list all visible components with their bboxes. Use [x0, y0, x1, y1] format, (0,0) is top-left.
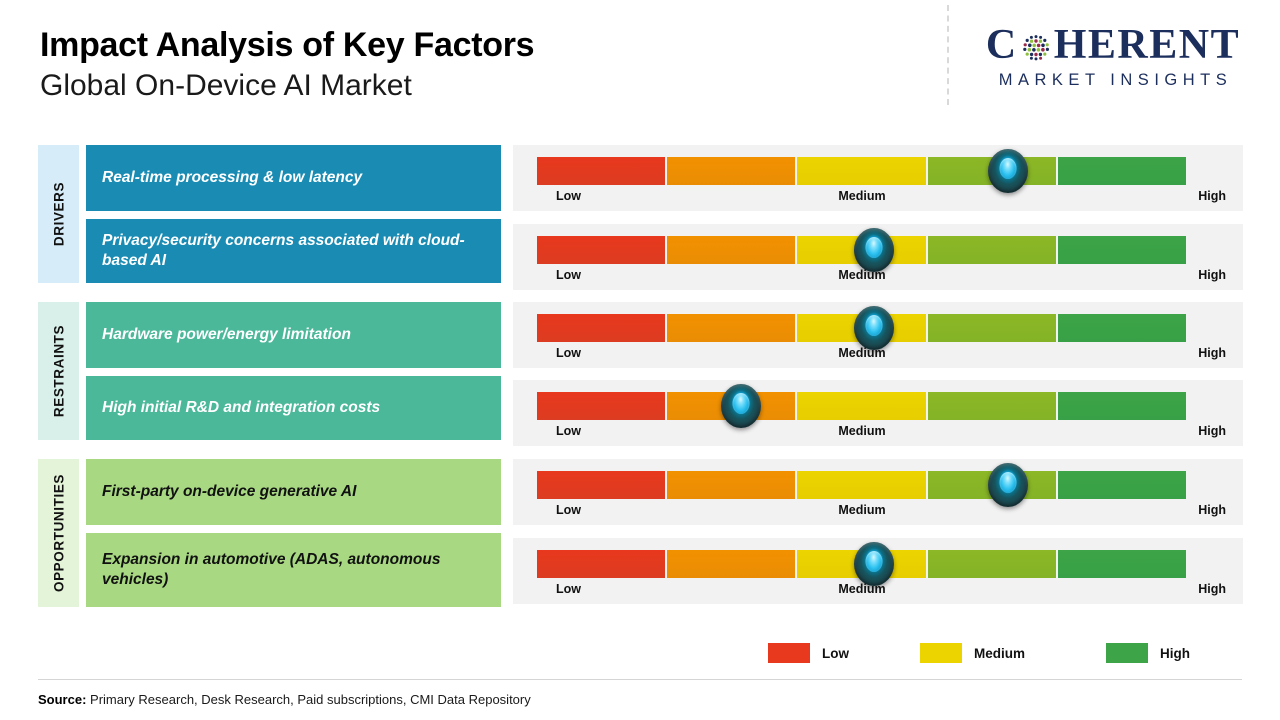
category-band-opportunities: OPPORTUNITIES: [38, 459, 79, 607]
legend-swatch-low: [768, 643, 810, 663]
gauge-segment-1: [537, 392, 665, 420]
impact-marker[interactable]: [854, 542, 894, 586]
gauge-panel: Low Medium High: [513, 145, 1243, 211]
scale-label-high: High: [1198, 346, 1226, 360]
category-band-restraints: RESTRAINTS: [38, 302, 79, 440]
gauge-panel: Low Medium High: [513, 302, 1243, 368]
gauge-scale: Low Medium High: [537, 424, 1227, 444]
scale-label-low: Low: [556, 424, 581, 438]
impact-marker[interactable]: [854, 306, 894, 350]
gauge-segment-1: [537, 314, 665, 342]
gauge-segment-1: [537, 471, 665, 499]
gauge-panel: Low Medium High: [513, 538, 1243, 604]
gauge-segment-5: [1058, 236, 1186, 264]
gauge-segment-4: [928, 236, 1056, 264]
source-text: Primary Research, Desk Research, Paid su…: [90, 692, 531, 707]
gauge-segment-5: [1058, 550, 1186, 578]
legend-swatch-medium: [920, 643, 962, 663]
logo-wordmark: C: [963, 22, 1263, 68]
gauge-scale: Low Medium High: [537, 503, 1227, 523]
gauge-segment-3: [797, 471, 925, 499]
slide-canvas: Impact Analysis of Key Factors Global On…: [0, 0, 1280, 720]
title-block: Impact Analysis of Key Factors Global On…: [40, 26, 900, 104]
gauge-segment-1: [537, 157, 665, 185]
globe-dots-icon: [1019, 31, 1053, 65]
gauge-segment-2: [667, 550, 795, 578]
factor-box[interactable]: Hardware power/energy limitation: [86, 302, 501, 368]
impact-matrix: DRIVERS RESTRAINTS OPPORTUNITIES Real-ti…: [0, 140, 1280, 610]
header-divider: [947, 5, 949, 105]
legend-item-medium: Medium: [920, 643, 1025, 663]
category-label-opportunities: OPPORTUNITIES: [51, 474, 66, 592]
scale-label-high: High: [1198, 582, 1226, 596]
gauge-segment-2: [667, 157, 795, 185]
gauge-panel: Low Medium High: [513, 459, 1243, 525]
footer-divider: [38, 679, 1242, 680]
impact-marker[interactable]: [988, 149, 1028, 193]
scale-label-medium: Medium: [838, 503, 885, 517]
scale-label-medium: Medium: [838, 268, 885, 282]
legend-item-high: High: [1106, 643, 1190, 663]
brand-logo: C: [963, 22, 1263, 90]
slide-header: Impact Analysis of Key Factors Global On…: [0, 0, 1280, 130]
factor-label: High initial R&D and integration costs: [102, 398, 380, 418]
legend-swatch-high: [1106, 643, 1148, 663]
scale-label-medium: Medium: [838, 189, 885, 203]
gauge-scale: Low Medium High: [537, 346, 1227, 366]
gauge-segment-5: [1058, 314, 1186, 342]
legend-label-high: High: [1160, 646, 1190, 661]
category-band-drivers: DRIVERS: [38, 145, 79, 283]
logo-letters-rest: HERENT: [1054, 24, 1240, 66]
scale-label-low: Low: [556, 189, 581, 203]
gauge-segment-2: [667, 314, 795, 342]
page-subtitle: Global On-Device AI Market: [40, 68, 900, 104]
gauge-segment-1: [537, 550, 665, 578]
gauge-scale: Low Medium High: [537, 189, 1227, 209]
logo-letter-c: C: [986, 24, 1018, 66]
factor-label: Real-time processing & low latency: [102, 168, 362, 188]
gauge-segment-5: [1058, 392, 1186, 420]
scale-label-medium: Medium: [838, 424, 885, 438]
gauge-panel: Low Medium High: [513, 224, 1243, 290]
impact-marker[interactable]: [854, 228, 894, 272]
impact-marker[interactable]: [721, 384, 761, 428]
scale-label-low: Low: [556, 268, 581, 282]
legend-label-medium: Medium: [974, 646, 1025, 661]
category-label-drivers: DRIVERS: [51, 182, 66, 246]
category-label-restraints: RESTRAINTS: [51, 325, 66, 417]
factor-label: First-party on-device generative AI: [102, 482, 356, 502]
scale-label-high: High: [1198, 268, 1226, 282]
chart-legend: Low Medium High: [760, 643, 1200, 669]
gauge-scale: Low Medium High: [537, 268, 1227, 288]
factor-box[interactable]: Expansion in automotive (ADAS, autonomou…: [86, 533, 501, 607]
gauge-segment-4: [928, 550, 1056, 578]
factor-box[interactable]: Privacy/security concerns associated wit…: [86, 219, 501, 283]
gauge-segment-2: [667, 471, 795, 499]
gauge-segment-5: [1058, 157, 1186, 185]
gauge-bar: [537, 157, 1186, 185]
legend-item-low: Low: [768, 643, 849, 663]
scale-label-medium: Medium: [838, 346, 885, 360]
scale-label-low: Low: [556, 503, 581, 517]
impact-marker[interactable]: [988, 463, 1028, 507]
gauge-segment-1: [537, 236, 665, 264]
scale-label-high: High: [1198, 503, 1226, 517]
scale-label-low: Low: [556, 582, 581, 596]
factor-box[interactable]: Real-time processing & low latency: [86, 145, 501, 211]
gauge-segment-3: [797, 392, 925, 420]
factor-label: Hardware power/energy limitation: [102, 325, 351, 345]
scale-label-medium: Medium: [838, 582, 885, 596]
factor-label: Expansion in automotive (ADAS, autonomou…: [102, 550, 485, 591]
gauge-segment-3: [797, 157, 925, 185]
factor-box[interactable]: High initial R&D and integration costs: [86, 376, 501, 440]
gauge-segment-4: [928, 392, 1056, 420]
gauge-bar: [537, 392, 1186, 420]
source-note: Source: Primary Research, Desk Research,…: [38, 692, 531, 707]
scale-label-high: High: [1198, 424, 1226, 438]
legend-label-low: Low: [822, 646, 849, 661]
gauge-segment-4: [928, 314, 1056, 342]
gauge-bar: [537, 471, 1186, 499]
gauge-panel: Low Medium High: [513, 380, 1243, 446]
source-label: Source:: [38, 692, 86, 707]
scale-label-low: Low: [556, 346, 581, 360]
factor-label: Privacy/security concerns associated wit…: [102, 231, 485, 272]
gauge-segment-2: [667, 236, 795, 264]
scale-label-high: High: [1198, 189, 1226, 203]
gauge-segment-5: [1058, 471, 1186, 499]
logo-tagline: MARKET INSIGHTS: [963, 71, 1263, 90]
gauge-scale: Low Medium High: [537, 582, 1227, 602]
page-title: Impact Analysis of Key Factors: [40, 26, 900, 64]
factor-box[interactable]: First-party on-device generative AI: [86, 459, 501, 525]
